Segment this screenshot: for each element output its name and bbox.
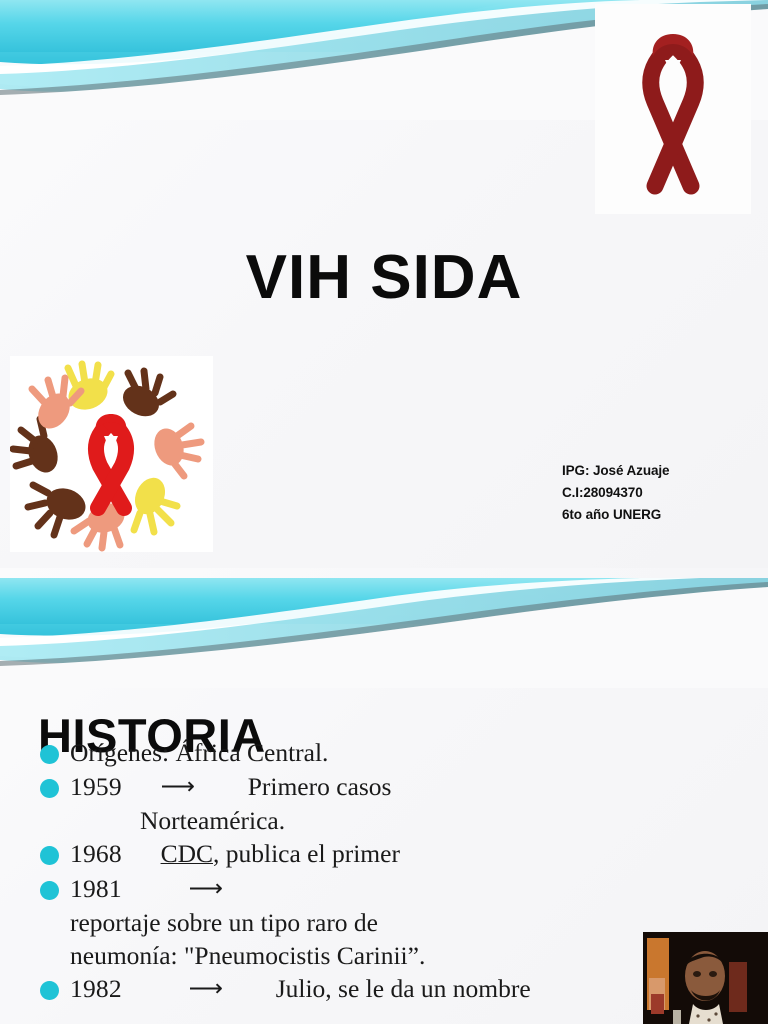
bullet-list: Orígenes: África Central. 1959 ⟶ Primero…	[40, 736, 680, 1006]
author-course: 6to año UNERG	[562, 504, 768, 526]
bullet-dot-icon	[40, 881, 59, 900]
list-item: 1968 CDC, publica el primer	[40, 837, 680, 870]
bullet-year: 1968	[70, 839, 122, 868]
arrow-right-icon: ⟶	[189, 874, 223, 905]
author-name: IPG: José Azuaje	[562, 460, 768, 482]
list-item: 1959 ⟶ Primero casos	[40, 770, 680, 803]
bullet-year: 1982	[70, 974, 122, 1003]
bullet-dot-icon	[40, 779, 59, 798]
slide-title: VIH SIDA	[0, 0, 768, 568]
author-block: IPG: José Azuaje C.I:28094370 6to año UN…	[562, 460, 768, 526]
hands-circle-image	[10, 356, 213, 552]
bullet-dot-icon	[40, 981, 59, 1000]
bullet-text: Orígenes: África Central.	[70, 738, 328, 767]
bullet-dot-icon	[40, 846, 59, 865]
man-portrait-image	[643, 932, 768, 1024]
list-item-continuation: neumonía: "Pneumocistis Carinii”.	[40, 939, 680, 972]
bullet-text: Julio, se le da un nombre	[276, 974, 531, 1003]
bullet-text: Primero casos	[248, 772, 392, 801]
bullet-text: , publica el primer	[213, 839, 400, 868]
list-item: 1982 ⟶ Julio, se le da un nombre	[40, 972, 680, 1005]
slide-historia: HISTORIA Orígenes: África Central. 1959 …	[0, 568, 768, 1024]
author-id: C.I:28094370	[562, 482, 768, 504]
list-item: Orígenes: África Central.	[40, 736, 680, 769]
page-title: VIH SIDA	[0, 247, 768, 309]
list-item-continuation: reportaje sobre un tipo raro de	[40, 906, 680, 939]
bullet-dot-icon	[40, 745, 59, 764]
arrow-right-icon: ⟶	[161, 772, 195, 803]
bullet-acronym: CDC	[161, 839, 213, 868]
list-item-continuation: Norteamérica.	[40, 804, 680, 837]
bullet-year: 1959	[70, 772, 122, 801]
arrow-right-icon: ⟶	[189, 974, 223, 1005]
wave-decoration-bottom-slide	[0, 568, 768, 688]
list-item: 1981 ⟶	[40, 872, 680, 905]
bullet-year: 1981	[70, 874, 122, 903]
presentation-deck: VIH SIDA	[0, 0, 768, 1024]
red-ribbon-image	[595, 4, 751, 214]
